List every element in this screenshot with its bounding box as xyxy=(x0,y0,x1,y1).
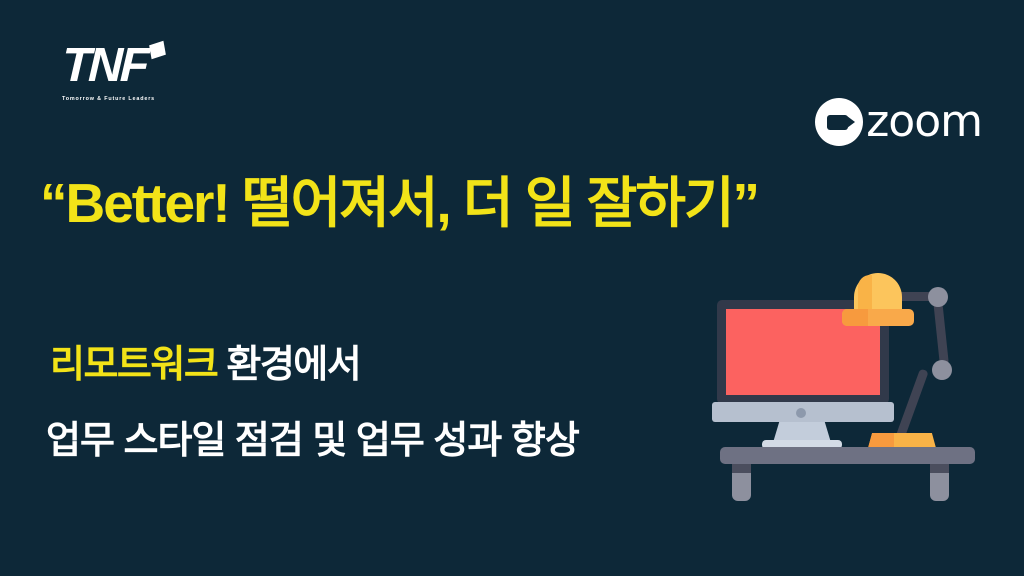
subtitle-highlight: 리모트워크 xyxy=(50,344,217,386)
desk-leg-left xyxy=(732,464,751,501)
monitor-power-button-icon xyxy=(796,408,806,418)
tnf-tagline: Tomorrow & Future Leaders xyxy=(62,96,192,102)
desk-top xyxy=(720,447,975,464)
zoom-badge xyxy=(815,98,863,146)
subtitle-line-1: 리모트워크 환경에서 xyxy=(50,340,360,390)
subtitle-line-1-rest: 환경에서 xyxy=(217,344,360,386)
lamp-arm-middle xyxy=(933,299,949,366)
lamp-joint-lower xyxy=(932,360,952,380)
presentation-slide: TNF Tomorrow & Future Leaders zoom “Bett… xyxy=(0,0,1024,576)
zoom-logo: zoom xyxy=(815,98,982,146)
subtitle-line-2: 업무 스타일 점검 및 업무 성과 향상 xyxy=(46,416,579,466)
desk-leg-right xyxy=(930,464,949,501)
tnf-logo-mark: TNF xyxy=(62,42,172,92)
lamp-base-highlight xyxy=(868,433,894,448)
lamp-shade-brim-highlight xyxy=(842,309,868,326)
video-camera-icon xyxy=(827,115,848,130)
page-title: “Better! 떨어져서, 더 일 잘하기” xyxy=(40,168,758,238)
tnf-logo: TNF Tomorrow & Future Leaders xyxy=(62,42,192,112)
lamp-joint-upper xyxy=(928,287,948,307)
desk-workspace-illustration xyxy=(690,265,1000,505)
zoom-wordmark: zoom xyxy=(866,100,982,144)
